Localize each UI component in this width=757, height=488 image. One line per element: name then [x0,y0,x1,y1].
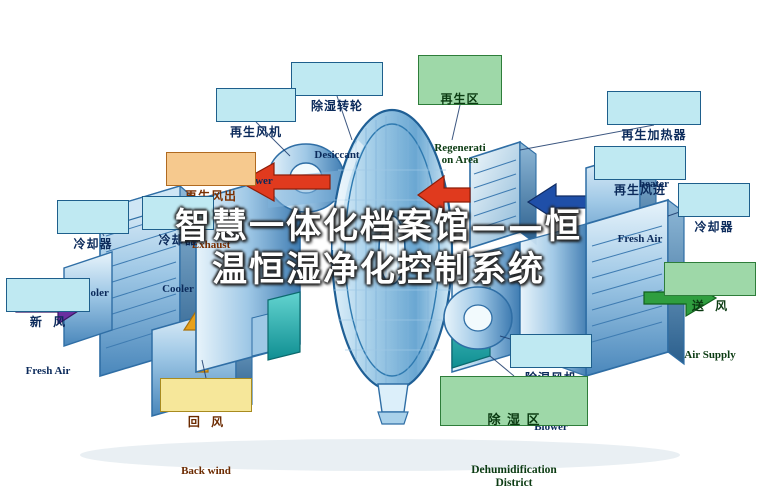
label-desiccant-wheel-cn: 除湿转轮 [295,100,379,113]
label-regeneration-fresh-air-in-en: Fresh Air [598,233,682,245]
label-regeneration-fresh-air-in: 再生风进 Fresh Air [594,146,686,180]
label-air-supply-cn: 送 风 [668,300,752,313]
label-air-supply-en: Air Supply [668,349,752,361]
label-dehumidification-district-en: Dehumidification District [444,464,584,488]
label-fresh-air-inlet-en: Fresh Air [10,365,86,377]
label-desiccant-wheel: 除湿转轮 Desiccant [291,62,383,96]
label-cooler-left: 冷却器 Cooler [57,200,129,234]
label-cooler-mid: 冷却器 Cooler [142,196,214,230]
label-regeneration-area-en: Regenerati on Area [422,142,498,167]
label-return-air: 回 风 Back wind [160,378,252,412]
label-regeneration-heater: 再生加热器 heater [607,91,701,125]
label-regeneration-exhaust: 再生风出 Exhaust [166,152,256,186]
label-air-supply: 送 风 Air Supply [664,262,756,296]
label-regeneration-area-cn: 再生区 [422,93,498,106]
label-return-air-cn: 回 风 [164,416,248,429]
label-regeneration-heater-cn: 再生加热器 [611,129,697,142]
label-cooler-left-cn: 冷却器 [61,238,125,251]
label-cooler-mid-en: Cooler [146,283,210,295]
label-fresh-air-inlet-cn: 新 风 [10,316,86,329]
label-fresh-air-inlet: 新 风 Fresh Air [6,278,90,312]
label-regeneration-blower: 再生风机 Blower [216,88,296,122]
label-regeneration-area: 再生区 Regenerati on Area [418,55,502,105]
label-cooler-mid-cn: 冷却器 [146,234,210,247]
label-return-air-en: Back wind [164,465,248,477]
label-regeneration-blower-cn: 再生风机 [220,126,292,139]
label-regeneration-fresh-air-in-cn: 再生风进 [598,184,682,197]
dehumidify-blower-shape [444,287,512,349]
label-dehumidification-district-cn: 除 湿 区 [444,414,584,429]
diagram-screenshot: 除湿转轮 Desiccant 再生区 Regenerati on Area 再生… [0,0,757,488]
label-desiccant-wheel-en: Desiccant [295,149,379,161]
label-dehumidification-district: 除 湿 区 Dehumidification District [440,376,588,426]
label-cooler-right-cn: 冷却器 [682,221,746,234]
label-dehumidify-blower: 除湿风机 Blower [510,334,592,368]
label-cooler-right: 冷却器 Cooler [678,183,750,217]
